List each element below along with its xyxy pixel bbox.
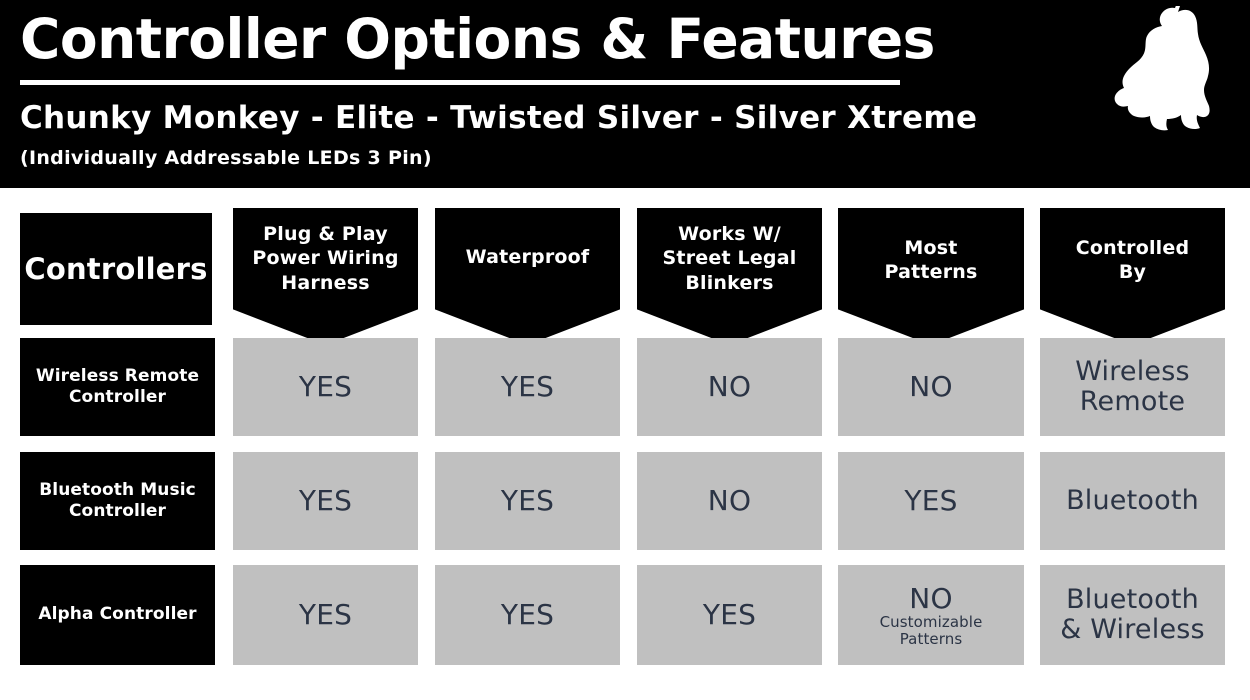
cell-value: YES bbox=[501, 485, 554, 516]
table-cell: YES bbox=[435, 452, 620, 550]
cell-value: YES bbox=[501, 599, 554, 630]
table-cell: YES bbox=[435, 565, 620, 665]
table-cell: YES bbox=[233, 338, 418, 436]
column-header-plug-and-play: Plug & Play Power Wiring Harness bbox=[233, 208, 418, 345]
row-header-line: Controller bbox=[69, 387, 166, 407]
cell-subtext: Customizable bbox=[880, 614, 983, 631]
table-cell: YES bbox=[637, 565, 822, 665]
table-cell: NO Customizable Patterns bbox=[838, 565, 1024, 665]
cell-value: YES bbox=[904, 485, 957, 516]
cell-value: NO bbox=[909, 371, 952, 402]
column-header-line: By bbox=[1119, 261, 1146, 283]
poster-root: Controller Options & Features Chunky Mon… bbox=[0, 0, 1250, 700]
cell-value: YES bbox=[501, 371, 554, 402]
title-divider bbox=[20, 80, 900, 85]
header-banner: Controller Options & Features Chunky Mon… bbox=[0, 0, 1250, 188]
cell-value: YES bbox=[299, 371, 352, 402]
table-corner-header: Controllers bbox=[20, 213, 212, 325]
cell-value: & Wireless bbox=[1060, 615, 1205, 645]
column-header-street-legal-blinkers: Works W/ Street Legal Blinkers bbox=[637, 208, 822, 345]
column-header-line: Blinkers bbox=[685, 272, 773, 294]
column-header-line: Plug & Play bbox=[263, 223, 388, 245]
cell-value: NO bbox=[708, 485, 751, 516]
table-cell: Wireless Remote bbox=[1040, 338, 1225, 436]
column-header-line: Power Wiring bbox=[252, 247, 398, 269]
table-cell: YES bbox=[435, 338, 620, 436]
cell-value: YES bbox=[299, 485, 352, 516]
column-header-most-patterns: Most Patterns bbox=[838, 208, 1024, 345]
column-header-controlled-by: Controlled By bbox=[1040, 208, 1225, 345]
table-cell: NO bbox=[637, 452, 822, 550]
cell-value: Wireless bbox=[1075, 357, 1190, 387]
cell-value: NO bbox=[909, 583, 952, 614]
page-title: Controller Options & Features bbox=[20, 8, 935, 71]
row-header-line: Controller bbox=[69, 501, 166, 521]
table-cell: NO bbox=[637, 338, 822, 436]
features-table: Controllers Plug & Play Power Wiring Har… bbox=[0, 188, 1250, 700]
row-header-wireless-remote-controller: Wireless Remote Controller bbox=[20, 338, 215, 436]
row-header-alpha-controller: Alpha Controller bbox=[20, 565, 215, 665]
column-header-line: Waterproof bbox=[466, 246, 590, 268]
table-cell: YES bbox=[233, 565, 418, 665]
column-header-line: Street Legal bbox=[663, 247, 797, 269]
table-cell: YES bbox=[233, 452, 418, 550]
column-header-line: Patterns bbox=[884, 261, 977, 283]
table-cell: Bluetooth bbox=[1040, 452, 1225, 550]
row-header-line: Bluetooth Music bbox=[39, 480, 196, 500]
cell-value: YES bbox=[299, 599, 352, 630]
product-line-subtitle: Chunky Monkey - Elite - Twisted Silver -… bbox=[20, 100, 977, 136]
column-header-line: Controlled bbox=[1076, 237, 1190, 259]
column-header-line: Most bbox=[904, 237, 957, 259]
cell-value: Remote bbox=[1080, 387, 1185, 417]
gorilla-logo-icon bbox=[1112, 6, 1232, 146]
cell-subtext: Patterns bbox=[900, 631, 963, 648]
column-header-waterproof: Waterproof bbox=[435, 208, 620, 345]
column-header-line: Harness bbox=[281, 272, 370, 294]
table-cell: NO bbox=[838, 338, 1024, 436]
row-header-bluetooth-music-controller: Bluetooth Music Controller bbox=[20, 452, 215, 550]
led-spec-note: (Individually Addressable LEDs 3 Pin) bbox=[20, 147, 432, 169]
cell-value: NO bbox=[708, 371, 751, 402]
row-header-line: Wireless Remote bbox=[36, 366, 199, 386]
table-cell: YES bbox=[838, 452, 1024, 550]
cell-value: Bluetooth bbox=[1066, 486, 1199, 516]
column-header-line: Works W/ bbox=[678, 223, 781, 245]
cell-value: Bluetooth bbox=[1066, 585, 1199, 615]
table-cell: Bluetooth & Wireless bbox=[1040, 565, 1225, 665]
cell-value: YES bbox=[703, 599, 756, 630]
row-header-line: Alpha Controller bbox=[38, 604, 196, 624]
